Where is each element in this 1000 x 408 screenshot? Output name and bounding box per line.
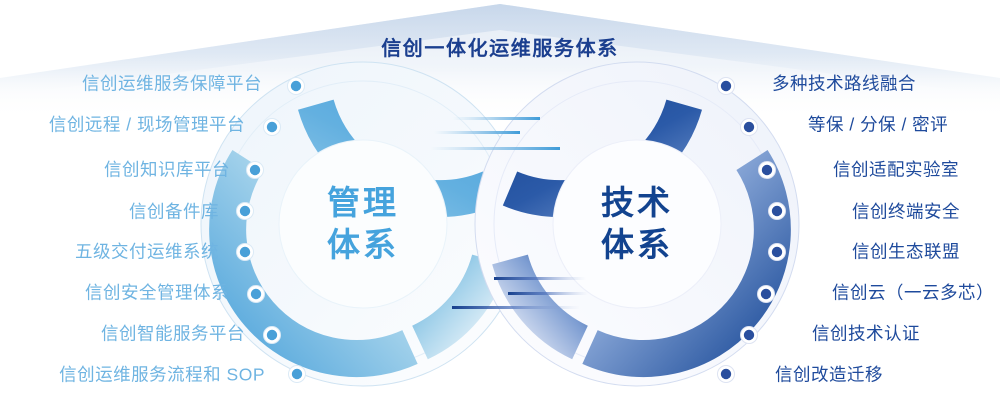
left-hub-label-line1: 管理 xyxy=(327,182,399,224)
right-connector-dot-4[interactable] xyxy=(772,206,782,216)
left-hub-label: 管理 体系 xyxy=(327,182,399,266)
right-hub-label: 技术 体系 xyxy=(601,182,673,266)
left-hub-label-line2: 体系 xyxy=(327,224,399,266)
left-connector-dot-8[interactable] xyxy=(292,369,302,379)
left-service-label-4[interactable]: 信创备件库 xyxy=(129,203,219,221)
right-connector-dot-3[interactable] xyxy=(762,165,772,175)
left-connector-dot-2[interactable] xyxy=(267,122,277,132)
right-service-label-6[interactable]: 信创云（一云多芯） xyxy=(832,284,994,302)
left-connector-dot-5[interactable] xyxy=(240,247,250,257)
right-connector-dot-8[interactable] xyxy=(721,369,731,379)
right-service-label-4[interactable]: 信创终端安全 xyxy=(852,203,960,221)
infographic-canvas: 信创一体化运维服务体系 管理 体系 技术 体系 信创运维服务保障平台信创远程 /… xyxy=(0,0,1000,408)
right-connector-dot-2[interactable] xyxy=(744,122,754,132)
left-service-label-5[interactable]: 五级交付运维系统 xyxy=(75,243,219,261)
right-connector-dot-7[interactable] xyxy=(744,330,754,340)
left-service-label-7[interactable]: 信创智能服务平台 xyxy=(101,325,245,343)
left-connector-dot-3[interactable] xyxy=(250,165,260,175)
right-service-label-8[interactable]: 信创改造迁移 xyxy=(775,366,883,384)
right-connector-dot-5[interactable] xyxy=(772,247,782,257)
page-title: 信创一体化运维服务体系 xyxy=(0,32,1000,61)
right-service-label-2[interactable]: 等保 / 分保 / 密评 xyxy=(808,116,948,134)
right-service-label-3[interactable]: 信创适配实验室 xyxy=(833,161,959,179)
left-service-label-1[interactable]: 信创运维服务保障平台 xyxy=(82,75,262,93)
left-service-label-6[interactable]: 信创安全管理体系 xyxy=(85,284,229,302)
left-service-label-8[interactable]: 信创运维服务流程和 SOP xyxy=(59,366,265,384)
left-connector-dot-7[interactable] xyxy=(267,330,277,340)
right-connector-dot-6[interactable] xyxy=(761,289,771,299)
right-connector-dot-1[interactable] xyxy=(721,81,731,91)
right-hub-label-line1: 技术 xyxy=(601,182,673,224)
right-service-label-7[interactable]: 信创技术认证 xyxy=(812,325,920,343)
title-chevron-banner xyxy=(0,4,1000,120)
right-hub-label-line2: 体系 xyxy=(601,224,673,266)
left-connector-dot-1[interactable] xyxy=(291,81,301,91)
left-connector-dot-4[interactable] xyxy=(240,206,250,216)
right-service-label-5[interactable]: 信创生态联盟 xyxy=(852,243,960,261)
left-connector-dot-6[interactable] xyxy=(251,289,261,299)
right-service-label-1[interactable]: 多种技术路线融合 xyxy=(772,75,916,93)
left-service-label-3[interactable]: 信创知识库平台 xyxy=(104,161,230,179)
left-service-label-2[interactable]: 信创远程 / 现场管理平台 xyxy=(49,116,245,134)
